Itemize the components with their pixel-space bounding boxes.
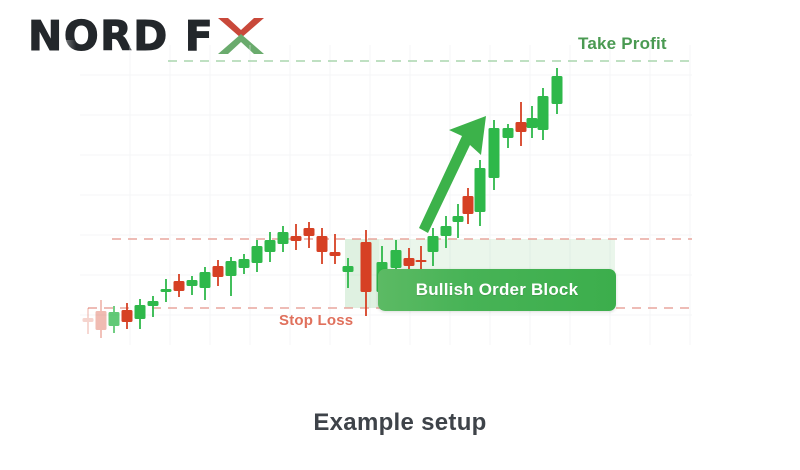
- candlestick-chart: [0, 0, 800, 470]
- candle: [475, 160, 486, 226]
- figure-caption: Example setup: [0, 409, 800, 437]
- take-profit-label: Take Profit: [578, 34, 667, 54]
- candle: [317, 228, 328, 264]
- candle: [226, 257, 237, 296]
- candle: [463, 188, 474, 224]
- candle: [239, 254, 250, 274]
- candle: [538, 88, 549, 140]
- candle: [213, 260, 224, 286]
- candle: [174, 274, 185, 297]
- stop-loss-label: Stop Loss: [279, 312, 353, 329]
- candle: [291, 224, 302, 250]
- candle: [304, 222, 315, 248]
- candle: [200, 267, 211, 300]
- candle: [503, 124, 514, 148]
- candle: [278, 226, 289, 252]
- order-block-badge: Bullish Order Block: [378, 269, 616, 311]
- candle: [252, 240, 263, 272]
- candle: [527, 106, 538, 138]
- candle: [187, 276, 198, 295]
- candle: [516, 102, 527, 146]
- candle: [453, 204, 464, 238]
- figure-root: NORD F: [0, 0, 800, 470]
- order-block-label: Bullish Order Block: [416, 280, 579, 300]
- candle: [265, 232, 276, 262]
